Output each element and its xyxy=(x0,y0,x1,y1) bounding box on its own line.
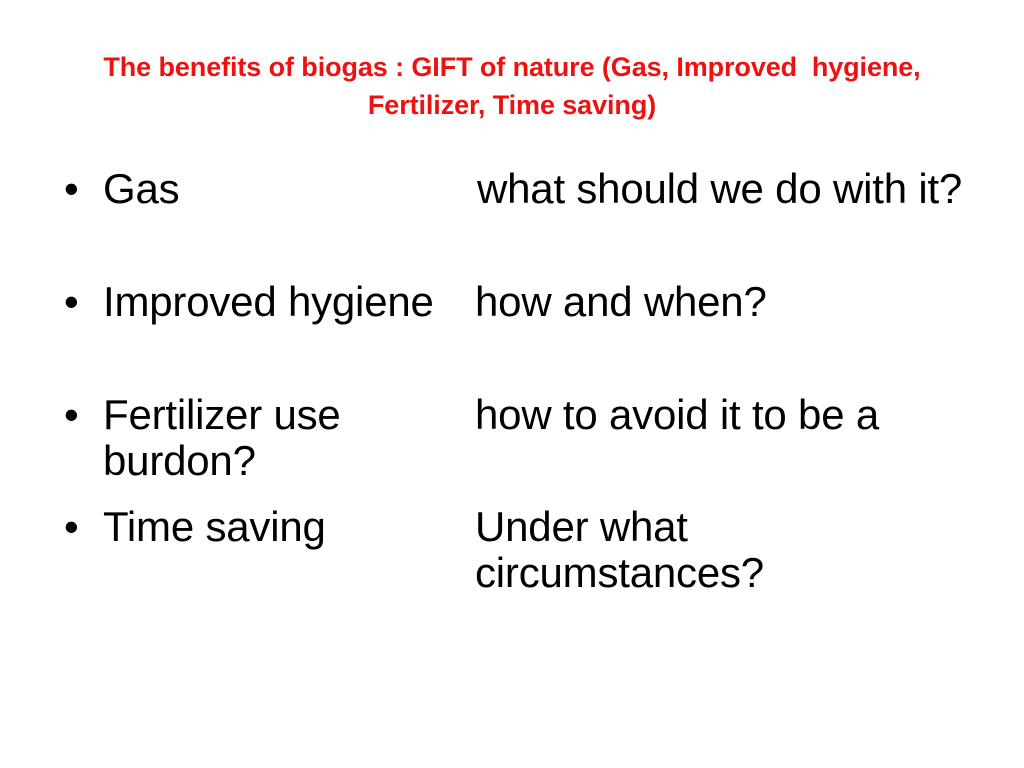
list-item-benefit: Time saving xyxy=(103,504,523,550)
bullet-point-icon: • xyxy=(64,166,86,212)
list-item-benefit: Fertilizer use burdon? xyxy=(103,392,433,484)
bullet-point-icon: • xyxy=(64,279,86,325)
list-item: • Improved hygiene how and when? xyxy=(60,279,980,325)
list-item: • Gas what should we do with it? xyxy=(60,166,980,212)
list-item: • Fertilizer use burdon? how to avoid it… xyxy=(60,392,980,438)
bullet-point-icon: • xyxy=(64,504,86,550)
list-item-question: how to avoid it to be a xyxy=(475,392,980,438)
list-item-benefit: Improved hygiene xyxy=(103,279,523,325)
list-item: • Time saving Under what circumstances? xyxy=(60,504,980,550)
list-item-question: how and when? xyxy=(475,279,980,325)
list-item-question: Under what circumstances? xyxy=(475,504,980,596)
bullet-point-icon: • xyxy=(64,392,86,438)
page-title: The benefits of biogas : GIFT of nature … xyxy=(56,48,968,124)
list-item-question: what should we do with it? xyxy=(477,166,982,212)
slide-canvas: The benefits of biogas : GIFT of nature … xyxy=(0,0,1024,768)
list-item-benefit: Gas xyxy=(103,166,523,212)
bullet-list: • Gas what should we do with it? • Impro… xyxy=(60,166,980,550)
